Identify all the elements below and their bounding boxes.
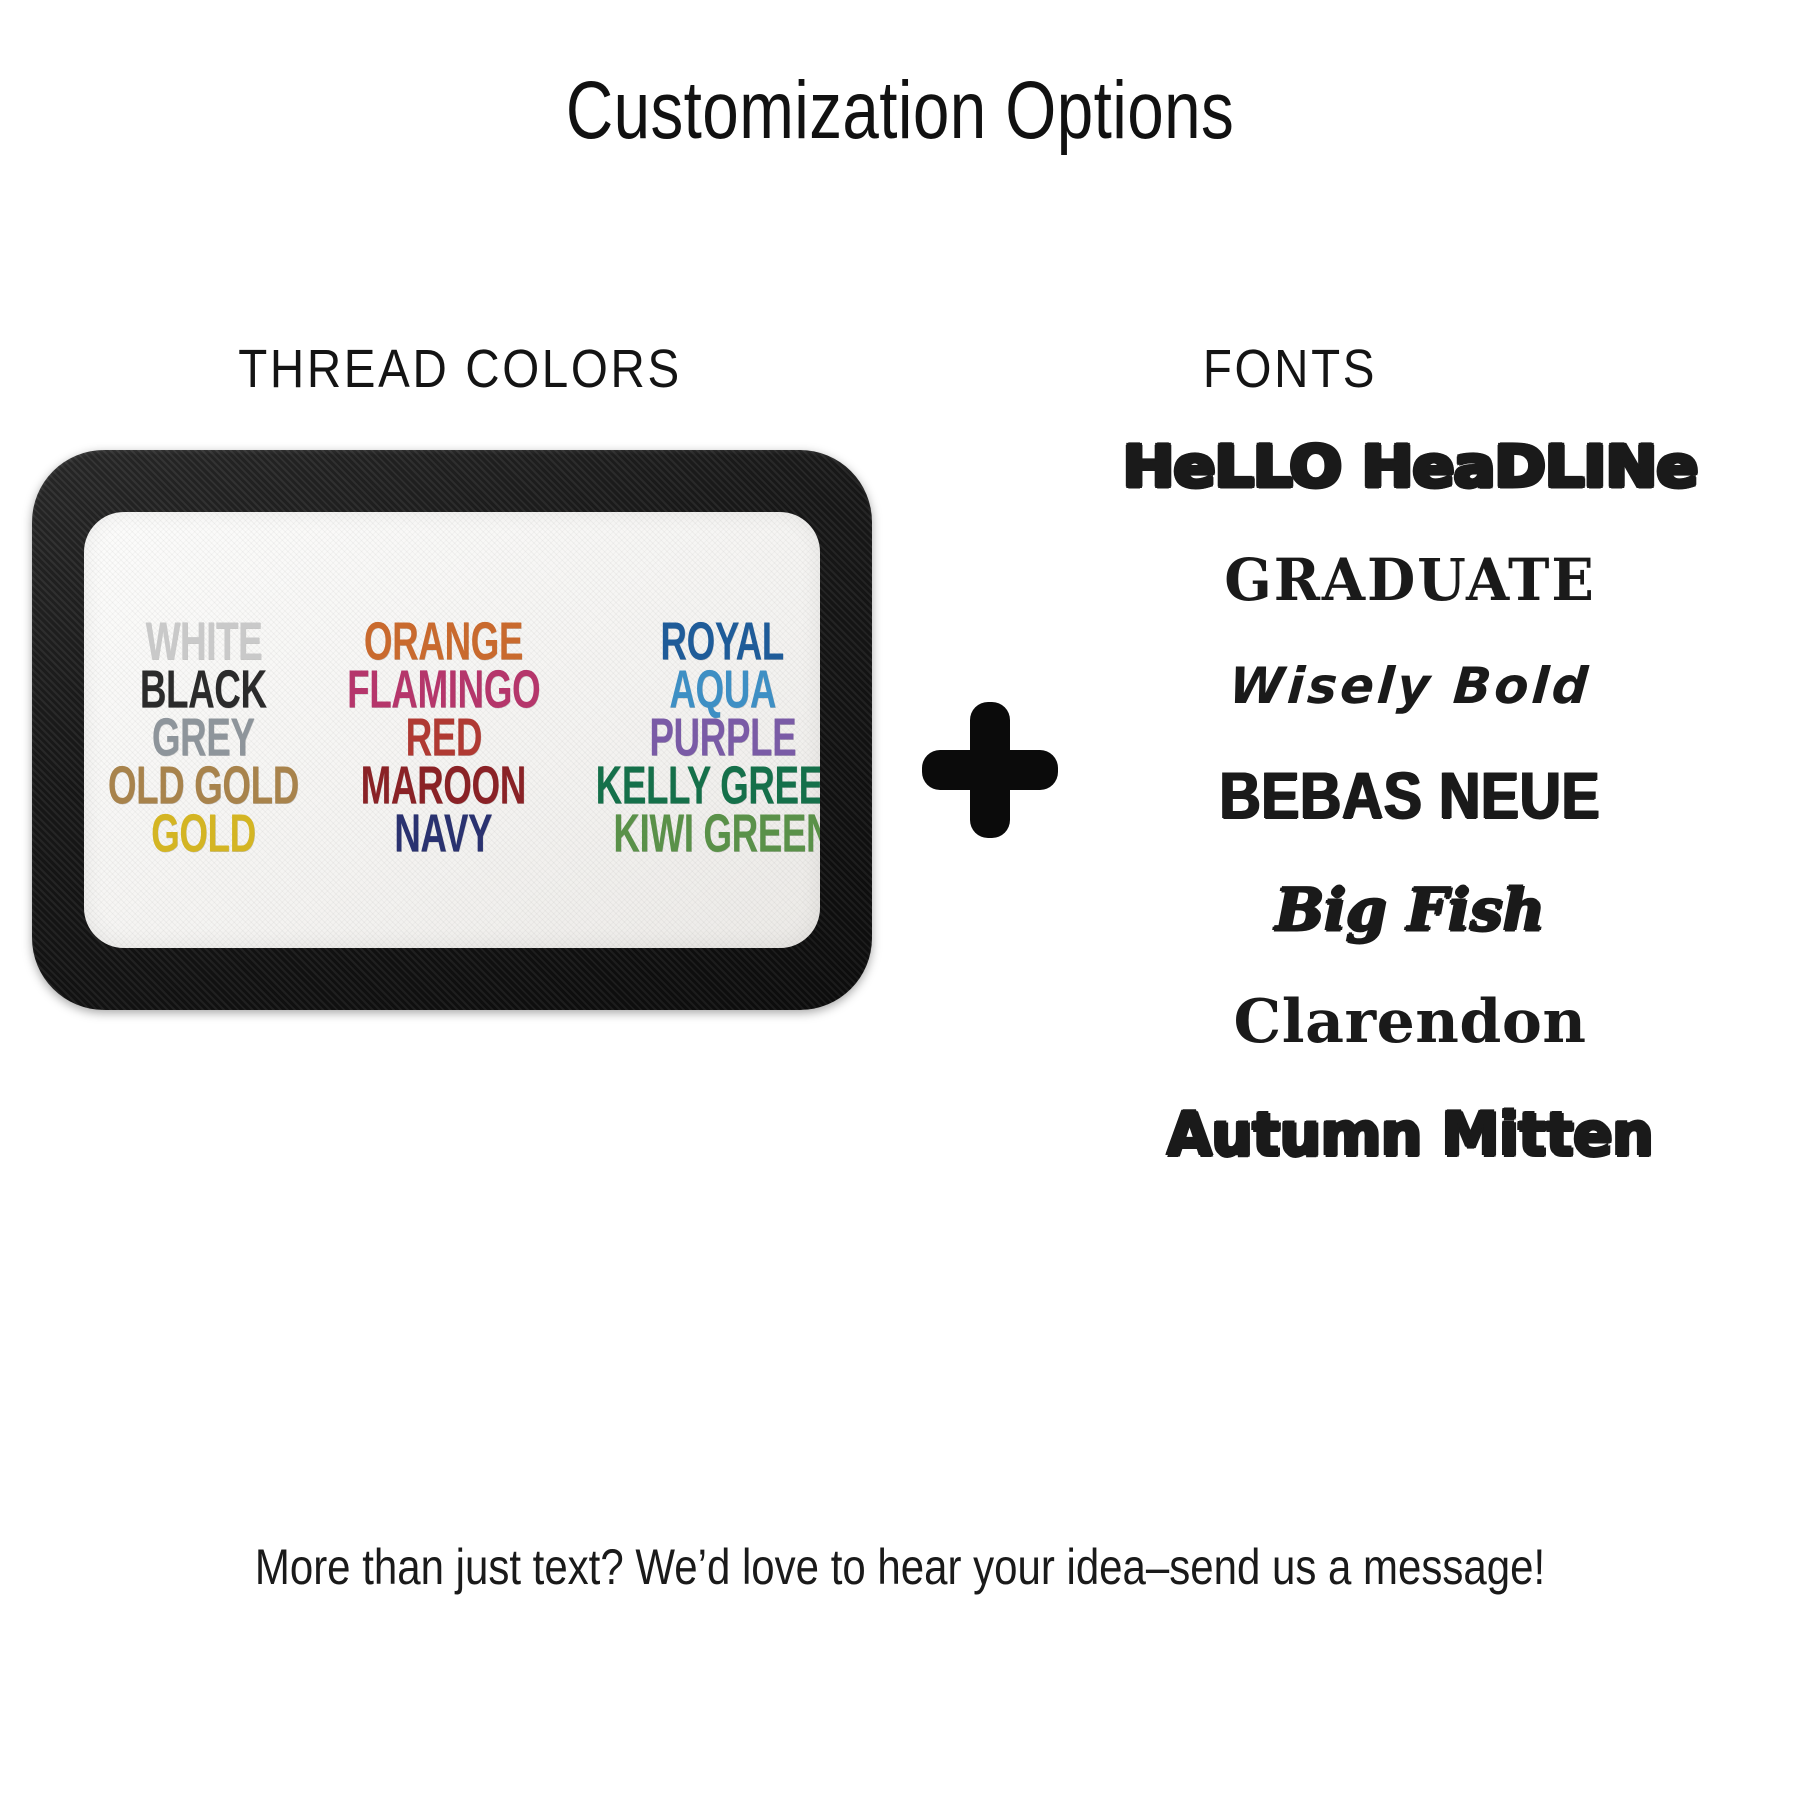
font-sample-graduate: GRADUATE (1074, 546, 1746, 614)
embroidered-patch: WHITE BLACK GREY OLD GOLD GOLD ORANGE FL… (32, 450, 872, 1010)
font-sample-big-fish: Big Fish (1060, 876, 1760, 944)
page-title: Customization Options (180, 64, 1620, 158)
thread-color-column: ROYAL AQUA PURPLE KELLY GREEN KIWI GREEN (564, 618, 820, 856)
thread-color-kiwi-green: KIWI GREEN (613, 806, 820, 859)
plus-icon-horizontal-bar (922, 750, 1058, 790)
patch-face: WHITE BLACK GREY OLD GOLD GOLD ORANGE FL… (84, 512, 820, 948)
font-sample-bebas-neue: BEBAS NEUE (1109, 757, 1711, 833)
font-sample-autumn-mitten: Autumn Mitten (1071, 1100, 1750, 1170)
thread-color-navy: NAVY (394, 806, 492, 859)
font-sample-hello-headline: HeLLO HeaDLINe (1060, 433, 1760, 500)
fonts-header: FONTS (1044, 338, 1537, 400)
thread-color-column: WHITE BLACK GREY OLD GOLD GOLD (84, 618, 323, 856)
plus-icon (920, 700, 1060, 840)
thread-color-gold: GOLD (151, 806, 256, 859)
thread-colors-header: THREAD COLORS (108, 338, 812, 400)
thread-color-column: ORANGE FLAMINGO RED MAROON NAVY (323, 618, 564, 856)
font-sample-clarendon: Clarendon (1060, 987, 1760, 1057)
font-samples-list: HeLLO HeaDLINe GRADUATE Wisely Bold BEBA… (1060, 430, 1760, 1170)
font-sample-wisely-bold: Wisely Bold (1058, 657, 1762, 715)
thread-color-grid: WHITE BLACK GREY OLD GOLD GOLD ORANGE FL… (84, 512, 820, 948)
footer-note: More than just text? We’d love to hear y… (144, 1538, 1656, 1596)
